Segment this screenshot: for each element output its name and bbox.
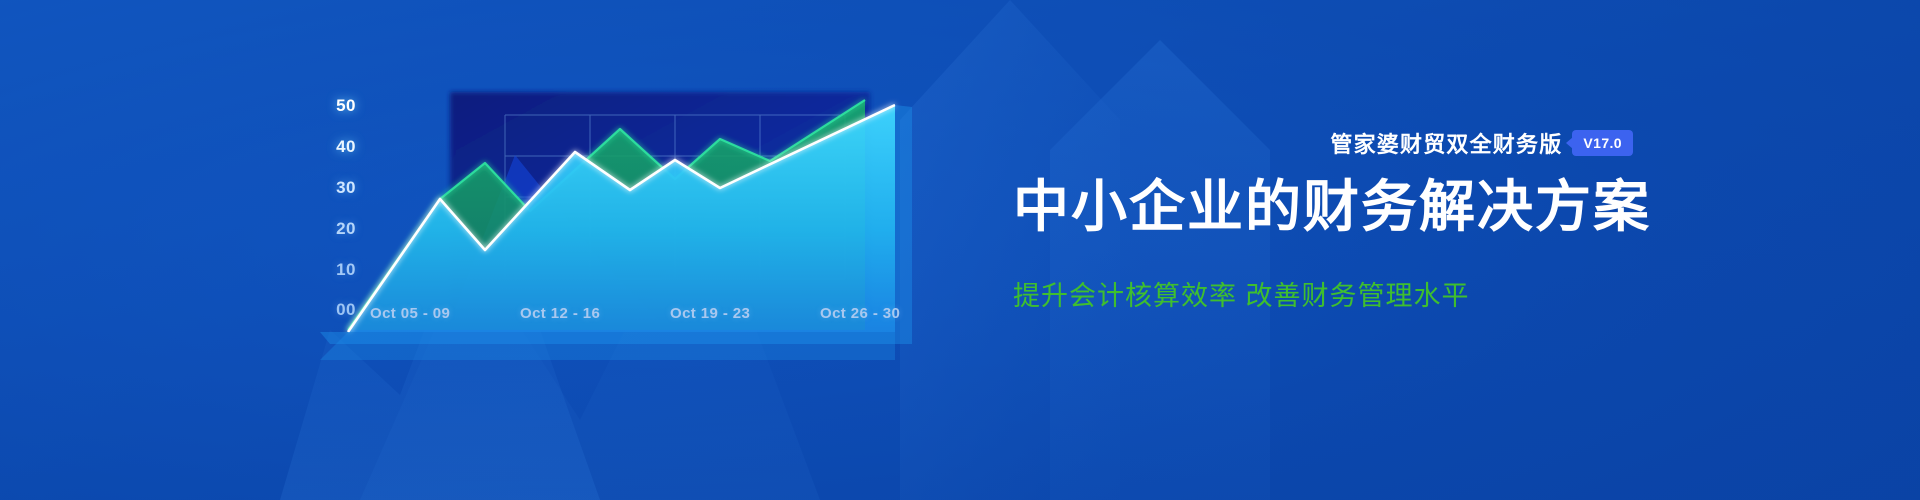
x-tick: Oct 05 - 09 [370, 305, 520, 322]
banner-copy: 管家婆财贸双全财务版 V17.0 中小企业的财务解决方案 提升会计核算效率 改善… [1013, 128, 1633, 340]
chart-svg [300, 60, 1000, 390]
y-tick: 30 [336, 178, 356, 198]
product-name: 管家婆财贸双全财务版 [1330, 127, 1562, 159]
x-tick: Oct 19 - 23 [670, 305, 820, 322]
version-badge: V17.0 [1572, 130, 1633, 156]
analytics-chart: 50 40 30 20 10 00 Oct 05 - 09 Oct 12 - 1… [300, 60, 1000, 390]
y-tick: 10 [336, 260, 356, 280]
y-tick: 40 [336, 137, 356, 157]
page-subtitle: 提升会计核算效率 改善财务管理水平 [1013, 274, 1633, 313]
y-tick: 50 [336, 96, 356, 116]
x-tick: Oct 12 - 16 [520, 305, 670, 322]
product-row: 管家婆财贸双全财务版 V17.0 [1013, 128, 1633, 158]
chart-x-axis: Oct 05 - 09 Oct 12 - 16 Oct 19 - 23 Oct … [370, 305, 1000, 322]
y-tick: 20 [336, 219, 356, 239]
promo-banner: 50 40 30 20 10 00 Oct 05 - 09 Oct 12 - 1… [0, 0, 1920, 500]
page-title: 中小企业的财务解决方案 [1013, 178, 1633, 237]
y-tick: 00 [336, 300, 356, 320]
chart-y-axis: 50 40 30 20 10 00 [308, 60, 356, 320]
x-tick: Oct 26 - 30 [820, 305, 970, 322]
